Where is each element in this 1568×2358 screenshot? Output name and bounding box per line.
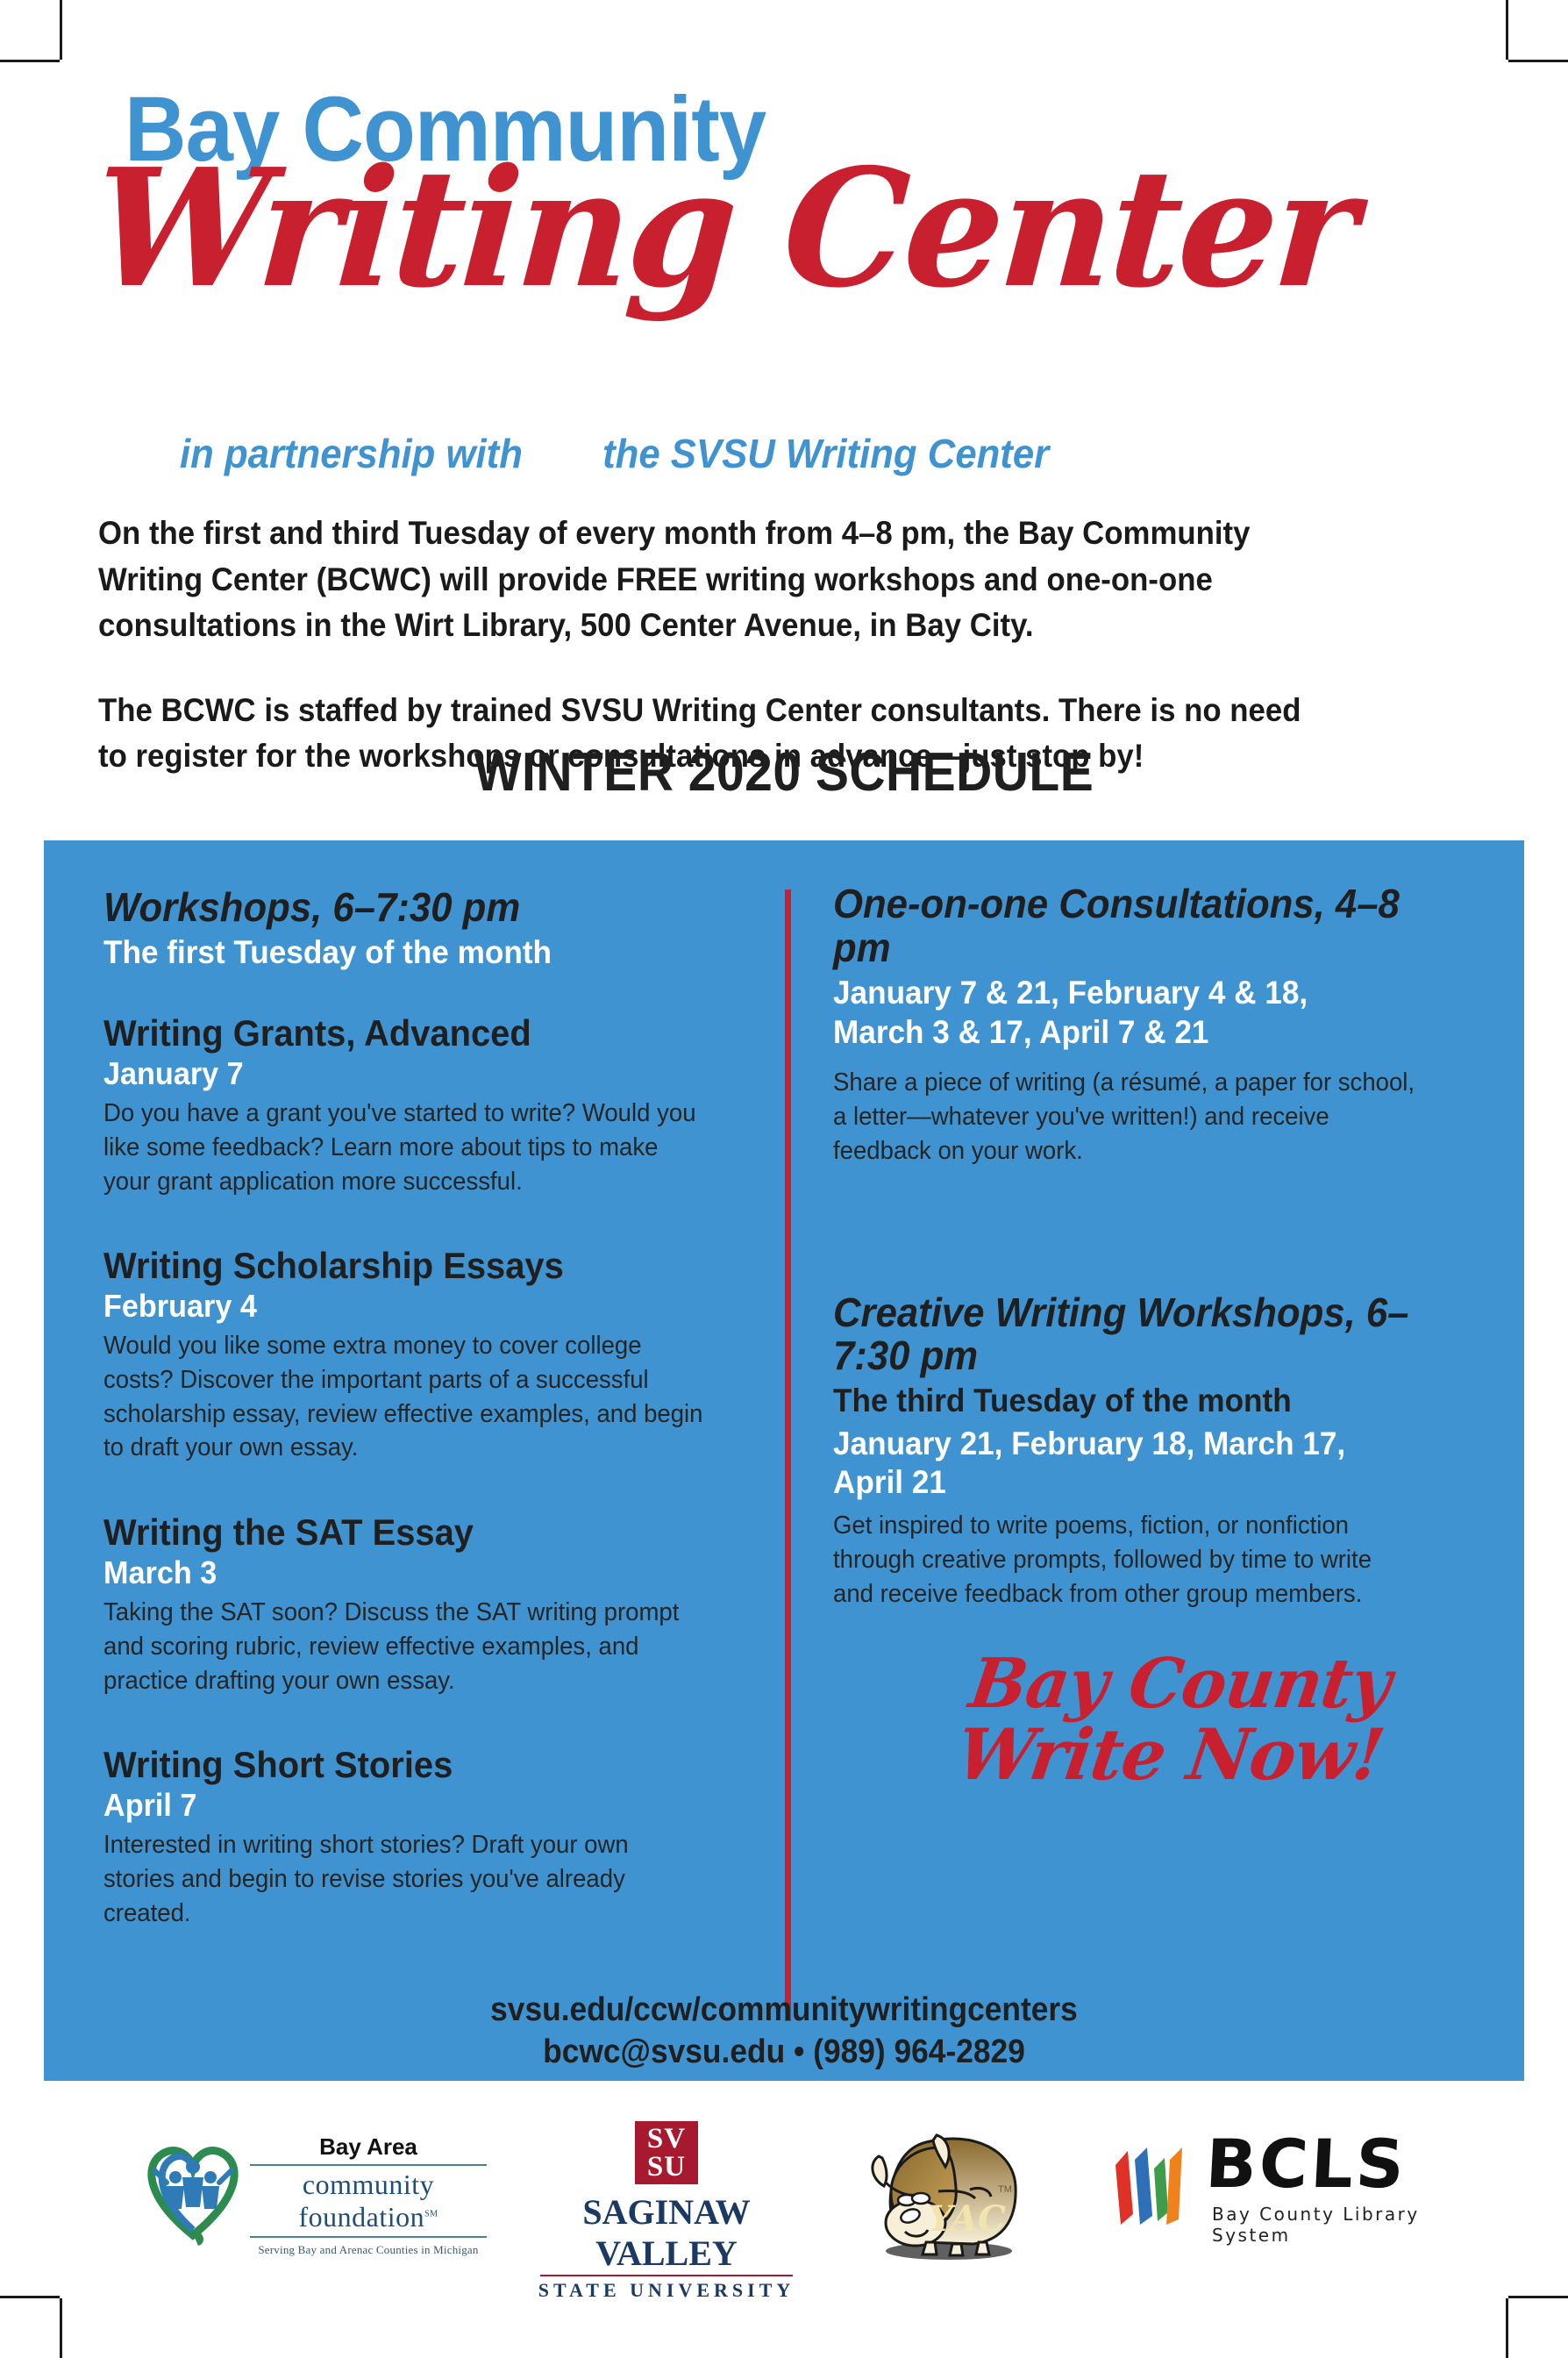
intro-free-emphasis: FREE — [617, 561, 698, 597]
bacf-name-middle: community foundationSM — [250, 2169, 487, 2233]
crop-mark-top-left-v — [60, 0, 62, 60]
workshop-item: Writing Grants, Advanced January 7 Do yo… — [103, 1013, 735, 1198]
bcls-wordmark: BCLS — [1204, 2125, 1409, 2203]
crop-mark-bottom-right-v — [1506, 2298, 1508, 2358]
workshop-title: Writing Short Stories — [103, 1745, 703, 1785]
crop-mark-bottom-left-v — [60, 2298, 62, 2358]
bay-county-write-now-logo: Bay County Write Now! — [942, 1649, 1408, 1790]
bacf-wordmark: Bay Area community foundationSM Serving … — [250, 2133, 487, 2257]
crop-mark-bottom-left-h — [0, 2296, 60, 2298]
workshop-description: Would you like some extra money to cover… — [103, 1329, 703, 1465]
crop-mark-bottom-right-h — [1508, 2296, 1568, 2298]
workshop-date: April 7 — [103, 1788, 703, 1823]
workshops-column: Workshops, 6–7:30 pm The first Tuesday o… — [103, 840, 735, 1978]
bacf-name-top: Bay Area — [250, 2133, 487, 2161]
workshop-title: Writing Scholarship Essays — [103, 1246, 703, 1286]
consultations-column: One-on-one Consultations, 4–8 pm January… — [833, 840, 1447, 1659]
creative-description: Get inspired to write poems, fiction, or… — [833, 1509, 1416, 1611]
workshop-date: March 3 — [103, 1555, 703, 1590]
creative-dates-line-2: April 21 — [833, 1463, 1416, 1502]
consultations-section: One-on-one Consultations, 4–8 pm January… — [833, 882, 1447, 1168]
masthead-partnership-suffix: the SVSU Writing Center — [602, 431, 1049, 476]
contact-info: svsu.edu/ccw/communitywritingcenters bcw… — [96, 1990, 1472, 2074]
intro-paragraph-1: On the first and third Tuesday of every … — [98, 511, 1318, 649]
workshop-description: Do you have a grant you've started to wr… — [103, 1097, 703, 1199]
workshops-section-title: Workshops, 6–7:30 pm — [103, 886, 703, 930]
masthead-line-writing-center: Writing Center — [89, 147, 1359, 310]
svsu-rule — [540, 2275, 793, 2276]
consultations-section-title: One-on-one Consultations, 4–8 pm — [833, 882, 1416, 969]
workshop-date: February 4 — [103, 1289, 703, 1324]
sponsor-logos: Bay Area community foundationSM Serving … — [0, 2105, 1568, 2281]
svsu-name-line-1: SAGINAW VALLEY — [535, 2191, 798, 2274]
website-url[interactable]: svsu.edu/ccw/communitywritingcenters — [96, 1990, 1472, 2032]
bay-area-community-foundation-logo: Bay Area community foundationSM Serving … — [140, 2123, 491, 2254]
workshop-description: Interested in writing short stories? Dra… — [103, 1828, 703, 1931]
masthead: Bay Community Writing Center in partners… — [0, 53, 1568, 465]
crop-mark-top-right-v — [1506, 0, 1508, 60]
workshop-item: Writing Short Stories April 7 Interested… — [103, 1745, 735, 1930]
bacf-sm-mark: SM — [424, 2209, 438, 2219]
bacf-rule-top — [250, 2164, 487, 2166]
workshop-item: Writing the SAT Essay March 3 Taking the… — [103, 1512, 735, 1697]
consultations-description: Share a piece of writing (a résumé, a pa… — [833, 1066, 1416, 1168]
color-bars-icon — [1114, 2139, 1197, 2231]
heart-people-icon — [140, 2132, 246, 2250]
svsu-mark-sv: SV — [647, 2125, 686, 2153]
yac-wordmark: YAC — [928, 2198, 1006, 2240]
yac-yak-logo: YAC TM — [842, 2118, 1052, 2267]
bacf-rule-bottom — [250, 2236, 487, 2238]
schedule-heading: WINTER 2020 SCHEDULE — [63, 741, 1506, 804]
svsu-mark-su: SU — [647, 2153, 686, 2181]
bcls-tagline: Bay County Library System — [1212, 2204, 1447, 2246]
creative-dates-line-1: January 21, February 18, March 17, — [833, 1425, 1416, 1463]
workshop-item: Writing Scholarship Essays February 4 Wo… — [103, 1246, 735, 1465]
write-now-line-2: Write Now! — [942, 1719, 1399, 1791]
workshop-title: Writing the SAT Essay — [103, 1512, 703, 1553]
creative-section-subtitle: The third Tuesday of the month — [833, 1382, 1416, 1420]
workshops-section-subtitle: The first Tuesday of the month — [103, 933, 703, 972]
write-now-line-1: Bay County — [951, 1649, 1408, 1719]
column-divider — [785, 890, 791, 2021]
bacf-tagline: Serving Bay and Arenac Counties in Michi… — [250, 2243, 487, 2257]
workshop-description: Taking the SAT soon? Discuss the SAT wri… — [103, 1596, 703, 1698]
masthead-partnership-prefix: in partnership with — [180, 431, 523, 476]
email-and-phone[interactable]: bcwc@svsu.edu • (989) 964-2829 — [96, 2032, 1472, 2074]
yac-tm-mark: TM — [998, 2184, 1012, 2195]
consultations-dates-line-1: January 7 & 21, February 4 & 18, — [833, 974, 1416, 1012]
consultations-dates-line-2: March 3 & 17, April 7 & 21 — [833, 1013, 1416, 1052]
yak-icon — [842, 2255, 1052, 2270]
svsu-shield-icon: SV SU — [635, 2121, 698, 2184]
schedule-panel: Workshops, 6–7:30 pm The first Tuesday o… — [44, 840, 1524, 2081]
workshop-date: January 7 — [103, 1056, 703, 1091]
creative-section-title: Creative Writing Workshops, 6–7:30 pm — [833, 1291, 1416, 1378]
svsu-logo: SV SU SAGINAW VALLEY STATE UNIVERSITY — [535, 2121, 798, 2302]
masthead-partnership-line: in partnership withthe SVSU Writing Cent… — [180, 430, 1049, 477]
workshop-title: Writing Grants, Advanced — [103, 1013, 703, 1054]
creative-workshops-section: Creative Writing Workshops, 6–7:30 pm Th… — [833, 1291, 1447, 1611]
svsu-name-line-2: STATE UNIVERSITY — [535, 2279, 798, 2302]
